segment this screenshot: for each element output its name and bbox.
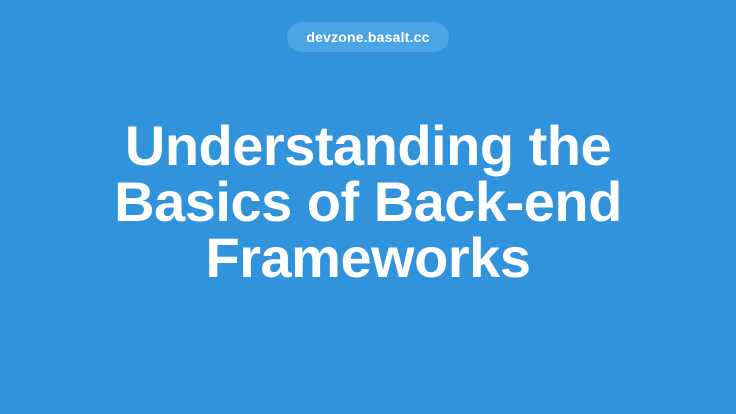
page-title: Understanding the Basics of Back-end Fra… <box>0 118 736 286</box>
page-title-line-1: Understanding the <box>40 118 696 174</box>
page-title-line-2: Basics of Back-end <box>40 174 696 230</box>
page-title-line-3: Frameworks <box>40 230 696 286</box>
badge-row: devzone.basalt.cc <box>0 22 736 52</box>
blog-title-card: devzone.basalt.cc Understanding the Basi… <box>0 0 736 414</box>
site-domain-badge: devzone.basalt.cc <box>287 22 448 52</box>
